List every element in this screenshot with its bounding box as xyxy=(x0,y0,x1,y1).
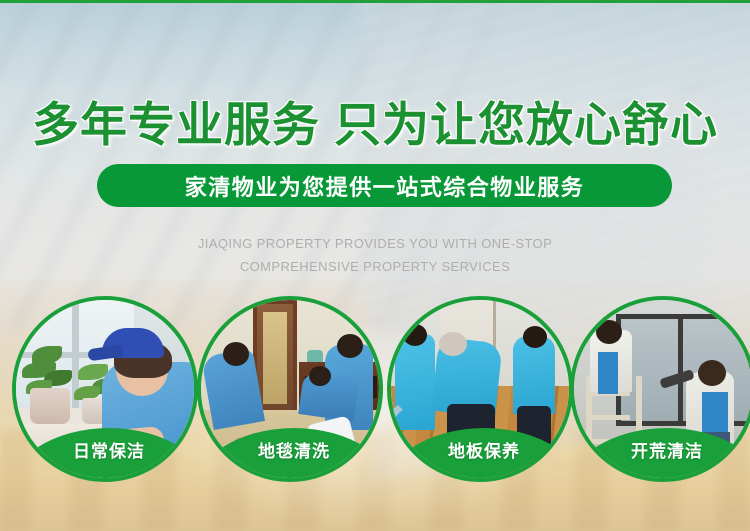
service-circle-daily-cleaning[interactable]: 日常保洁 xyxy=(12,296,198,482)
service-circle-carpet-washing[interactable]: 地毯清洗 xyxy=(197,296,383,482)
tagline-text: 家清物业为您提供一站式综合物业服务 xyxy=(185,170,585,202)
service-label: 开荒清洁 xyxy=(631,437,703,462)
service-circle-floor-care[interactable]: 地板保养 xyxy=(387,296,573,482)
page-title: 多年专业服务 只为让您放心舒心 xyxy=(0,86,750,155)
service-circle-post-construction[interactable]: 开荒清洁 xyxy=(570,296,750,482)
top-green-rule xyxy=(0,0,750,3)
service-circle-row: 日常保洁 xyxy=(0,296,750,496)
service-label: 地毯清洗 xyxy=(258,437,330,462)
subtitle-line-1: JIAQING PROPERTY PROVIDES YOU WITH ONE-S… xyxy=(0,232,750,255)
service-label: 日常保洁 xyxy=(73,437,145,462)
subtitle-english: JIAQING PROPERTY PROVIDES YOU WITH ONE-S… xyxy=(0,232,750,278)
promo-banner: 多年专业服务 只为让您放心舒心 家清物业为您提供一站式综合物业服务 JIAQIN… xyxy=(0,0,750,531)
service-label: 地板保养 xyxy=(448,437,520,462)
tagline-pill: 家清物业为您提供一站式综合物业服务 xyxy=(97,164,672,207)
subtitle-line-2: COMPREHENSIVE PROPERTY SERVICES xyxy=(0,255,750,278)
